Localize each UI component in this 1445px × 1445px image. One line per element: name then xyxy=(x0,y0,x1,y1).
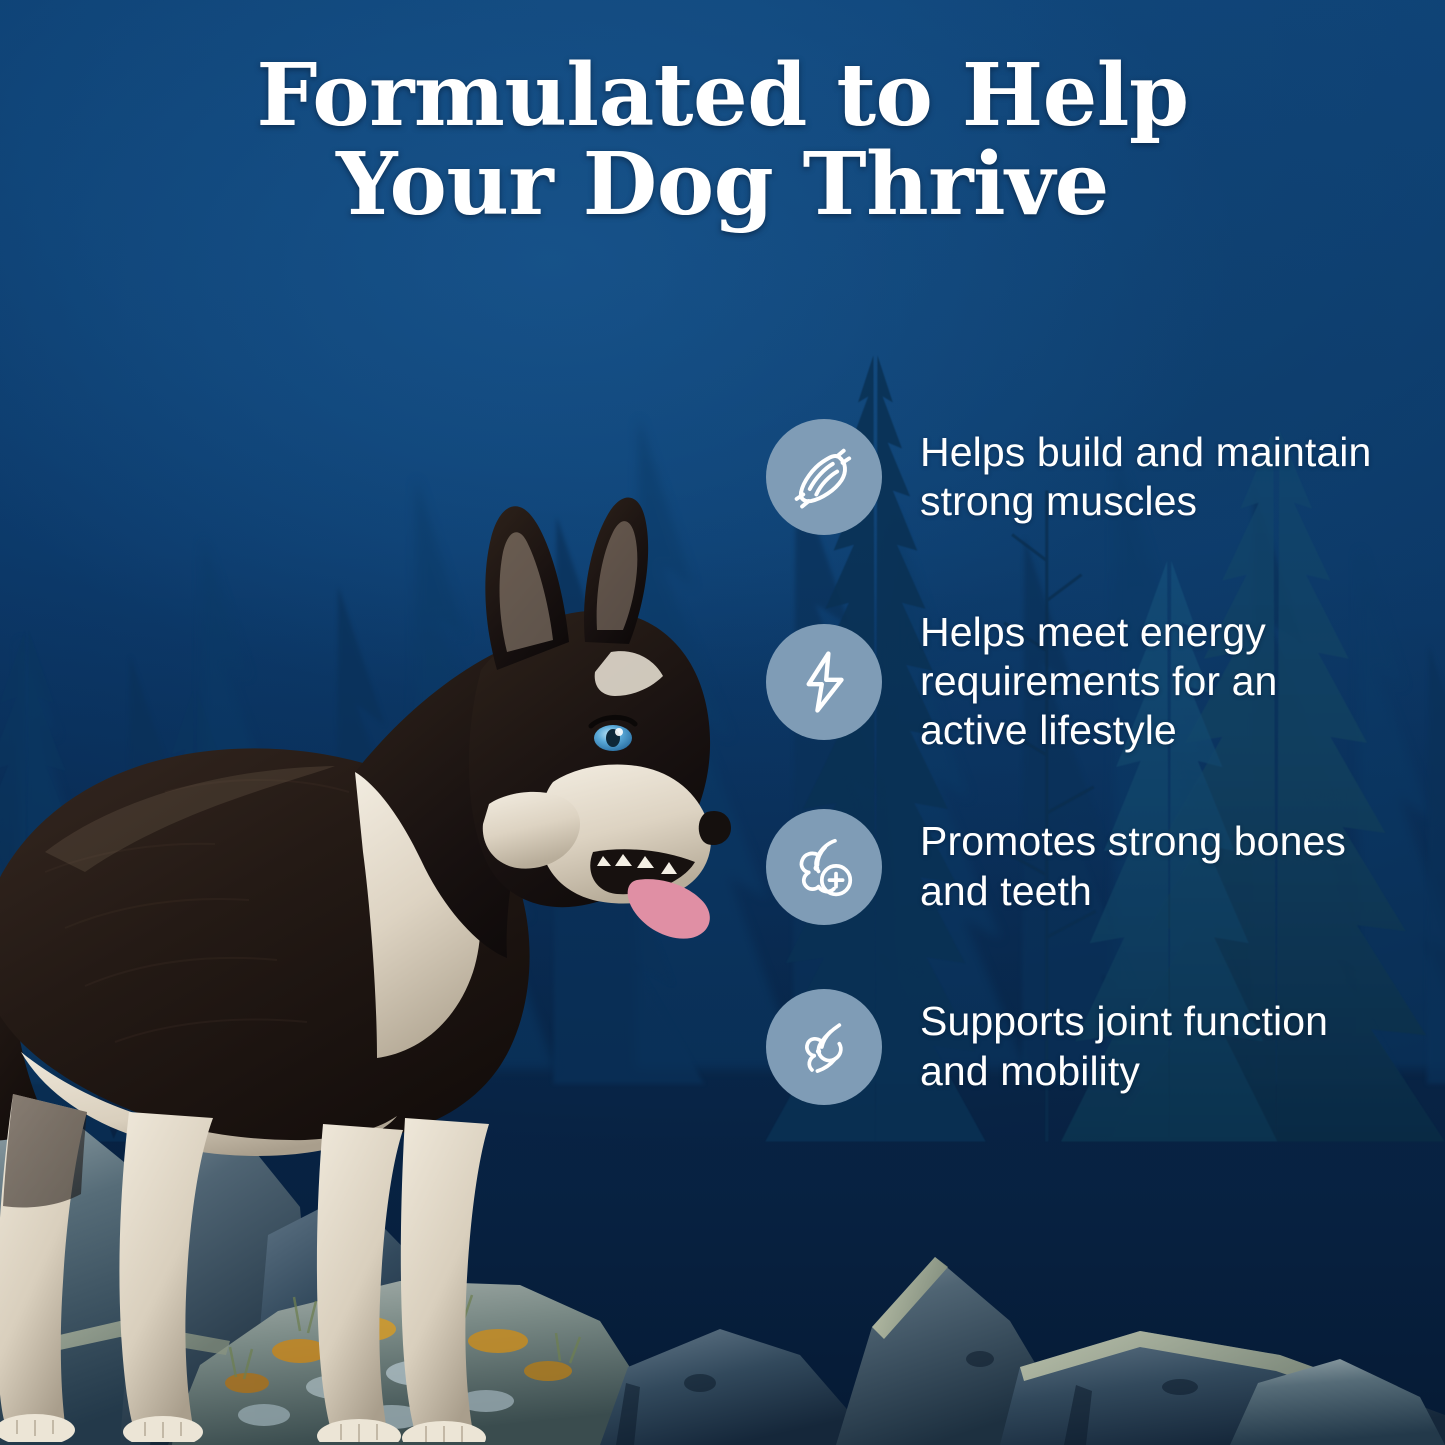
headline-line-2: Your Dog Thrive xyxy=(90,141,1355,230)
promo-poster: Formulated to Help Your Dog Thrive Helps… xyxy=(0,0,1445,1445)
muscle-icon xyxy=(766,419,882,535)
page-title: Formulated to Help Your Dog Thrive xyxy=(0,52,1445,229)
benefit-item-muscle: Helps build and maintain strong muscles xyxy=(766,418,1426,536)
joint-icon xyxy=(766,989,882,1105)
benefit-text-bones: Promotes strong bones and teeth xyxy=(920,817,1390,915)
benefit-item-energy: Helps meet energy requirements for an ac… xyxy=(766,608,1426,756)
lightning-bolt-icon xyxy=(766,624,882,740)
benefit-item-bones: Promotes strong bones and teeth xyxy=(766,808,1426,926)
benefit-item-joints: Supports joint function and mobility xyxy=(766,988,1426,1106)
benefit-text-joints: Supports joint function and mobility xyxy=(920,997,1390,1095)
benefit-text-energy: Helps meet energy requirements for an ac… xyxy=(920,608,1390,756)
bone-plus-icon xyxy=(766,809,882,925)
benefits-list: Helps build and maintain strong muscles … xyxy=(766,418,1426,1106)
headline-line-1: Formulated to Help xyxy=(256,45,1188,146)
benefit-text-muscle: Helps build and maintain strong muscles xyxy=(920,428,1390,526)
husky-dog-photo xyxy=(0,352,785,1442)
